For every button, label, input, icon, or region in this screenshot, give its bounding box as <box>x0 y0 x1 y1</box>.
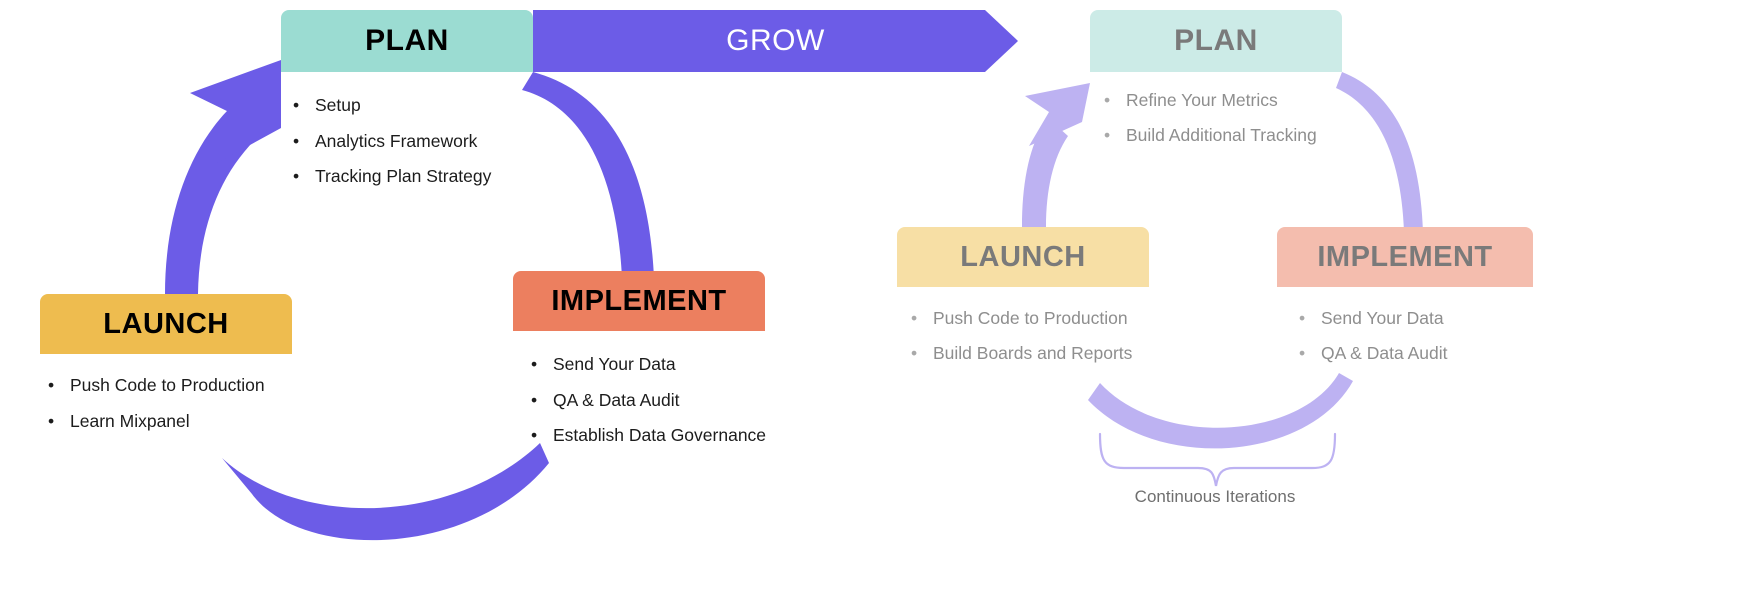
list-item-label: Send Your Data <box>1321 307 1444 331</box>
list-item-label: Push Code to Production <box>933 307 1128 331</box>
list-item: • Setup <box>293 94 533 118</box>
stage-bullets-plan-active: • Setup • Analytics Framework • Tracking… <box>281 94 533 189</box>
list-item-label: Refine Your Metrics <box>1126 89 1278 113</box>
stage-title-plan-active: PLAN <box>281 10 533 72</box>
list-item: • Send Your Data <box>531 353 765 377</box>
continuous-iterations-brace <box>1100 434 1335 486</box>
arrow-faded-implement-to-launch <box>1088 373 1353 448</box>
list-item-label: Establish Data Governance <box>553 424 766 448</box>
list-item: • Learn Mixpanel <box>48 410 292 434</box>
stage-card-plan-faded[interactable]: PLAN • Refine Your Metrics • Build Addit… <box>1090 10 1342 158</box>
arrow-launch-to-plan-shaft <box>165 96 268 294</box>
stage-bullets-launch-faded: • Push Code to Production • Build Boards… <box>897 307 1149 365</box>
list-item: • Build Boards and Reports <box>911 342 1149 366</box>
bullet-icon: • <box>531 424 553 448</box>
list-item: • Push Code to Production <box>911 307 1149 331</box>
list-item: • Push Code to Production <box>48 374 292 398</box>
list-item-label: Push Code to Production <box>70 374 265 398</box>
stage-card-launch-faded[interactable]: LAUNCH • Push Code to Production • Build… <box>897 227 1149 376</box>
list-item: • Establish Data Governance <box>531 424 765 448</box>
stage-title-implement-active: IMPLEMENT <box>513 271 765 331</box>
bullet-icon: • <box>531 353 553 377</box>
list-item: • QA & Data Audit <box>1299 342 1533 366</box>
list-item: • QA & Data Audit <box>531 389 765 413</box>
stage-bullets-launch-active: • Push Code to Production • Learn Mixpan… <box>40 374 292 433</box>
list-item-label: QA & Data Audit <box>1321 342 1447 366</box>
arrow-plan-to-implement <box>522 72 654 278</box>
grow-banner-label: GROW <box>533 10 1018 72</box>
list-item-label: Learn Mixpanel <box>70 410 190 434</box>
list-item: • Build Additional Tracking <box>1104 124 1342 148</box>
stage-title-launch-faded: LAUNCH <box>897 227 1149 287</box>
stage-card-implement-faded[interactable]: IMPLEMENT • Send Your Data • QA & Data A… <box>1277 227 1533 376</box>
bullet-icon: • <box>1299 342 1321 366</box>
arrow-faded-plan-to-implement <box>1336 72 1423 232</box>
bullet-icon: • <box>911 307 933 331</box>
stage-bullets-implement-faded: • Send Your Data • QA & Data Audit <box>1277 307 1533 365</box>
bullet-icon: • <box>48 374 70 398</box>
stage-card-launch-active[interactable]: LAUNCH • Push Code to Production • Learn… <box>40 294 292 445</box>
bullet-icon: • <box>293 165 315 189</box>
bullet-icon: • <box>911 342 933 366</box>
list-item: • Tracking Plan Strategy <box>293 165 533 189</box>
list-item-label: Setup <box>315 94 361 118</box>
arrow-faded-launch-to-plan-shaft <box>1022 118 1068 227</box>
stage-card-plan-active[interactable]: PLAN • Setup • Analytics Framework • Tra… <box>281 10 533 201</box>
list-item: • Analytics Framework <box>293 130 533 154</box>
bullet-icon: • <box>1299 307 1321 331</box>
bullet-icon: • <box>293 94 315 118</box>
list-item-label: Build Additional Tracking <box>1126 124 1317 148</box>
list-item: • Refine Your Metrics <box>1104 89 1342 113</box>
list-item-label: QA & Data Audit <box>553 389 679 413</box>
bullet-icon: • <box>1104 124 1126 148</box>
bullet-icon: • <box>531 389 553 413</box>
list-item-label: Tracking Plan Strategy <box>315 165 491 189</box>
stage-title-plan-faded: PLAN <box>1090 10 1342 72</box>
continuous-iterations-label: Continuous Iterations <box>1075 487 1355 507</box>
list-item-label: Send Your Data <box>553 353 676 377</box>
arrow-implement-to-launch <box>222 443 549 540</box>
bullet-icon: • <box>1104 89 1126 113</box>
arrow-launch-to-plan-head <box>190 60 281 163</box>
stage-title-launch-active: LAUNCH <box>40 294 292 354</box>
list-item: • Send Your Data <box>1299 307 1533 331</box>
bullet-icon: • <box>293 130 315 154</box>
stage-card-implement-active[interactable]: IMPLEMENT • Send Your Data • QA & Data A… <box>513 271 765 460</box>
list-item-label: Build Boards and Reports <box>933 342 1132 366</box>
stage-title-implement-faded: IMPLEMENT <box>1277 227 1533 287</box>
stage-bullets-implement-active: • Send Your Data • QA & Data Audit • Est… <box>513 353 765 448</box>
diagram-canvas: GROW PLAN • Setup • Analytics Framework … <box>0 0 1740 589</box>
arrow-faded-launch-to-plan-head <box>1025 83 1090 146</box>
stage-bullets-plan-faded: • Refine Your Metrics • Build Additional… <box>1090 89 1342 147</box>
list-item-label: Analytics Framework <box>315 130 477 154</box>
bullet-icon: • <box>48 410 70 434</box>
